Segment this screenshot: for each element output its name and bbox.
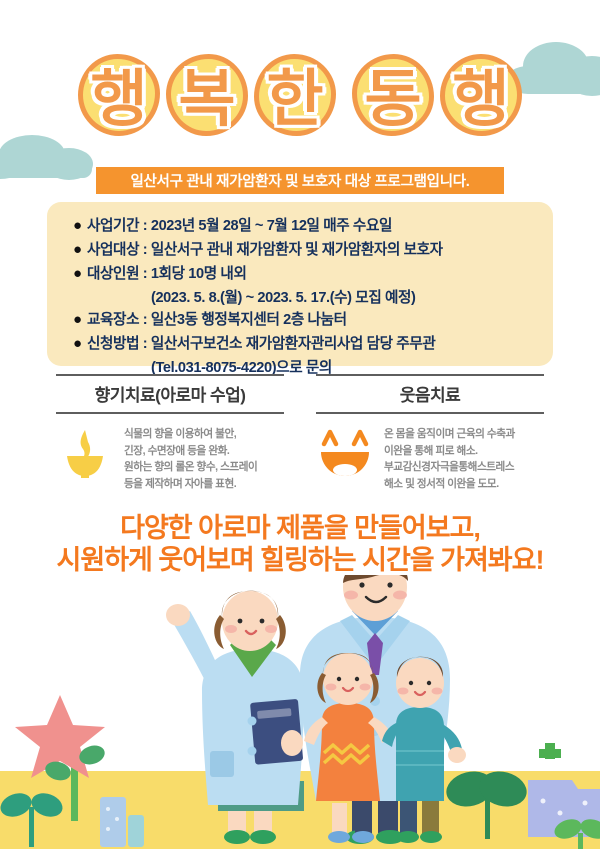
therapy-card-lines: 식물의 향을 이용하여 불안, 긴장, 수면장애 등을 완화. 원하는 향의 롤… xyxy=(124,426,284,492)
therapy-card-line: 이완을 통해 피로 해소. xyxy=(384,443,544,460)
therapy-cards: 향기치료(아로마 수업) 식물의 향을 이용하여 불안, 긴장, 수면장애 등을… xyxy=(0,374,600,492)
title-char-1: 행 xyxy=(71,48,167,152)
smiling-face-icon xyxy=(316,426,374,480)
info-row: ● 교육장소 : 일산3동 행정복지센터 2층 나눔터 xyxy=(69,309,535,331)
bullet-icon: ● xyxy=(69,239,87,261)
therapy-card-line: 부교감신경자극을통해스트레스 xyxy=(384,459,544,476)
info-row: ● 사업기간 : 2023년 5월 28일 ~ 7월 12일 매주 수요일 xyxy=(69,215,535,237)
program-info-box: ● 사업기간 : 2023년 5월 28일 ~ 7월 12일 매주 수요일 ● … xyxy=(47,202,553,366)
info-row-text: 사업대상 : 일산서구 관내 재가암환자 및 재가암환자의 보호자 xyxy=(87,239,443,261)
slogan-line-1: 다양한 아로마 제품을 만들어보고, xyxy=(0,512,600,544)
poster-root: 행 복 한 동 행 일산서구 관내 재가암환자 및 보호자 대상 프로그램입니다… xyxy=(0,0,600,849)
therapy-card-line: 해소 및 정서적 이완을 도모. xyxy=(384,476,544,493)
candle-icon xyxy=(56,426,114,480)
bullet-icon: ● xyxy=(69,333,87,355)
poster-title: 행 복 한 동 행 xyxy=(0,44,600,156)
family-illustration xyxy=(0,575,600,849)
info-row: ● 대상인원 : 1회당 10명 내외 xyxy=(69,263,535,285)
therapy-card-line: 긴장, 수면장애 등을 완화. xyxy=(124,443,284,460)
subtitle-banner: 일산서구 관내 재가암환자 및 보호자 대상 프로그램입니다. xyxy=(96,167,504,194)
title-char-2: 복 xyxy=(159,48,255,152)
slogan-line-2: 시원하게 웃어보며 힐링하는 시간을 가져봐요! xyxy=(0,544,600,576)
title-glyph: 복 xyxy=(178,69,235,131)
therapy-card-line: 원하는 향의 롤온 향수, 스프레이 xyxy=(124,459,284,476)
therapy-card-laughter: 웃음치료 온 몸을 움직이며 근육의 수축과 이완을 통해 피로 해소. 부교감… xyxy=(316,374,544,492)
bullet-icon: ● xyxy=(69,215,87,237)
title-char-5: 행 xyxy=(433,48,529,152)
title-glyph: 한 xyxy=(266,69,323,131)
therapy-card-title: 웃음치료 xyxy=(316,374,544,414)
therapy-card-aroma: 향기치료(아로마 수업) 식물의 향을 이용하여 불안, 긴장, 수면장애 등을… xyxy=(56,374,284,492)
bullet-icon: ● xyxy=(69,263,87,285)
info-row: ● 신청방법 : 일산서구보건소 재가암환자관리사업 담당 주무관 xyxy=(69,333,535,355)
title-glyph: 행 xyxy=(452,69,509,131)
info-row-text: 사업기간 : 2023년 5월 28일 ~ 7월 12일 매주 수요일 xyxy=(87,215,392,237)
therapy-card-line: 온 몸을 움직이며 근육의 수축과 xyxy=(384,426,544,443)
slogan: 다양한 아로마 제품을 만들어보고, 시원하게 웃어보며 힐링하는 시간을 가져… xyxy=(0,512,600,576)
info-row-text: 교육장소 : 일산3동 행정복지센터 2층 나눔터 xyxy=(87,309,347,331)
therapy-card-line: 등을 제작하며 자아를 표현. xyxy=(124,476,284,493)
therapy-card-lines: 온 몸을 움직이며 근육의 수축과 이완을 통해 피로 해소. 부교감신경자극을… xyxy=(384,426,544,492)
title-glyph: 행 xyxy=(90,69,147,131)
info-row-text: 신청방법 : 일산서구보건소 재가암환자관리사업 담당 주무관 xyxy=(87,333,435,355)
info-row: ● 사업대상 : 일산서구 관내 재가암환자 및 재가암환자의 보호자 xyxy=(69,239,535,261)
title-glyph: 동 xyxy=(364,69,421,131)
bullet-icon: ● xyxy=(69,309,87,331)
therapy-card-body: 온 몸을 움직이며 근육의 수축과 이완을 통해 피로 해소. 부교감신경자극을… xyxy=(316,414,544,492)
therapy-card-body: 식물의 향을 이용하여 불안, 긴장, 수면장애 등을 완화. 원하는 향의 롤… xyxy=(56,414,284,492)
info-row-subtext: (2023. 5. 8.(월) ~ 2023. 5. 17.(수) 모집 예정) xyxy=(69,287,535,309)
therapy-card-title: 향기치료(아로마 수업) xyxy=(56,374,284,414)
info-row-text: 대상인원 : 1회당 10명 내외 xyxy=(87,263,246,285)
title-char-3: 한 xyxy=(247,48,343,152)
title-char-4: 동 xyxy=(345,48,441,152)
therapy-card-line: 식물의 향을 이용하여 불안, xyxy=(124,426,284,443)
